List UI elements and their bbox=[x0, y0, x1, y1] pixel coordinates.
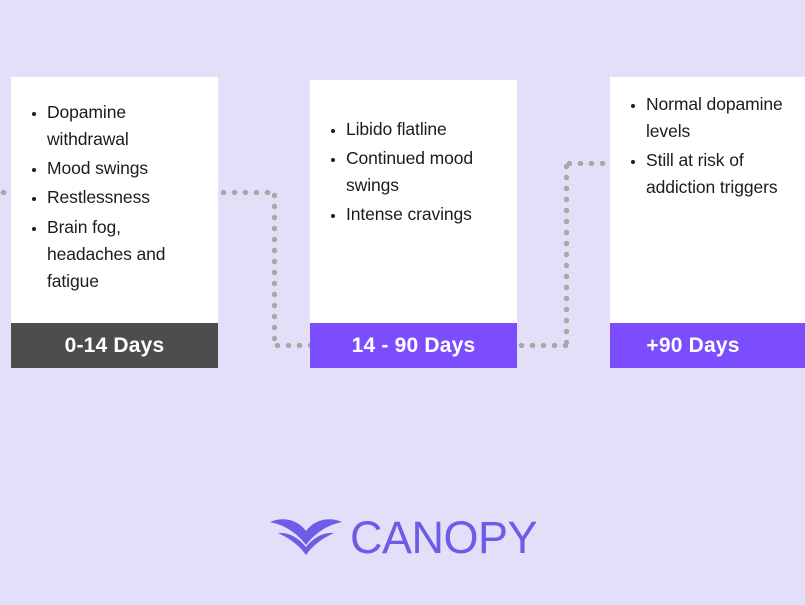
timeline-card-14-90-days: Libido flatline Continued mood swings In… bbox=[310, 80, 517, 368]
card-body-plus-90-days: Normal dopamine levels Still at risk of … bbox=[610, 77, 805, 323]
card-label-14-90-days: 14 - 90 Days bbox=[310, 323, 517, 368]
card-body-0-14-days: Dopamine withdrawal Mood swings Restless… bbox=[11, 77, 218, 323]
bullet-list-0-14-days: Dopamine withdrawal Mood swings Restless… bbox=[21, 99, 206, 297]
connector-card2-to-card3-segment-bottom bbox=[516, 343, 568, 348]
timeline-card-plus-90-days: Normal dopamine levels Still at risk of … bbox=[610, 77, 805, 368]
infographic-canvas: Dopamine withdrawal Mood swings Restless… bbox=[0, 0, 805, 605]
list-item: Libido flatline bbox=[346, 116, 505, 143]
connector-card2-to-card3-segment-vertical bbox=[564, 161, 569, 345]
card-label-0-14-days: 0-14 Days bbox=[11, 323, 218, 368]
list-item: Brain fog, headaches and fatigue bbox=[47, 214, 206, 295]
list-item: Dopamine withdrawal bbox=[47, 99, 206, 153]
canopy-wings-icon bbox=[268, 512, 344, 563]
connector-card1-to-card2-segment-vertical bbox=[272, 190, 277, 345]
bullet-list-14-90-days: Libido flatline Continued mood swings In… bbox=[320, 116, 505, 231]
card-label-plus-90-days: +90 Days bbox=[610, 323, 805, 368]
connector-card1-to-card2-segment-top bbox=[218, 190, 275, 195]
list-item: Restlessness bbox=[47, 184, 206, 211]
list-item: Continued mood swings bbox=[346, 145, 505, 199]
canopy-wordmark: CANOPY bbox=[350, 515, 537, 560]
list-item: Still at risk of addiction triggers bbox=[646, 147, 805, 201]
list-item: Intense cravings bbox=[346, 201, 505, 228]
connector-card2-to-card3-segment-top bbox=[564, 161, 612, 166]
list-item: Mood swings bbox=[47, 155, 206, 182]
list-item: Normal dopamine levels bbox=[646, 91, 805, 145]
card-body-14-90-days: Libido flatline Continued mood swings In… bbox=[310, 80, 517, 323]
timeline-card-0-14-days: Dopamine withdrawal Mood swings Restless… bbox=[11, 77, 218, 368]
bullet-list-plus-90-days: Normal dopamine levels Still at risk of … bbox=[620, 91, 805, 204]
canopy-logo: CANOPY bbox=[0, 512, 805, 563]
connector-incoming-left bbox=[0, 190, 11, 195]
connector-card1-to-card2-segment-bottom bbox=[272, 343, 312, 348]
